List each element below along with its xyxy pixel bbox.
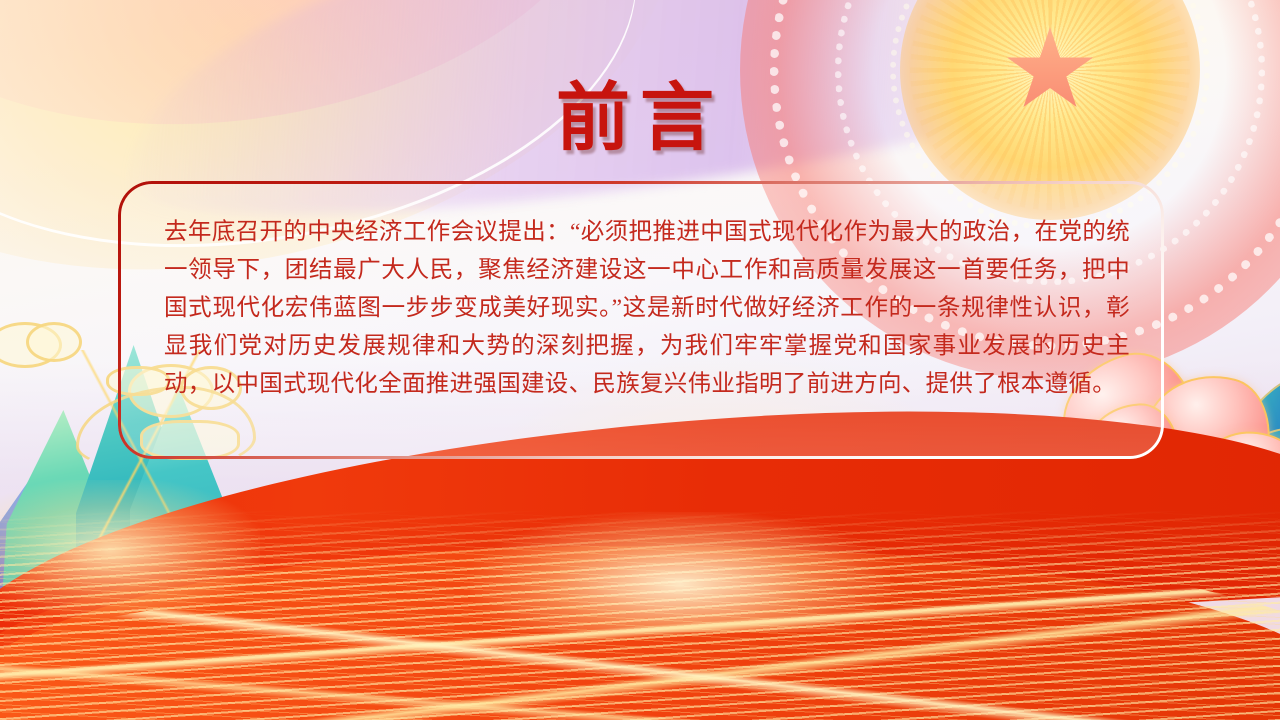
temple-platform <box>1024 614 1132 628</box>
temple-roof-bottom <box>1023 586 1133 614</box>
city-skyline-decoration <box>0 438 1280 628</box>
gold-cloud-scroll-1 <box>0 322 62 368</box>
shanghai-tower-icon <box>812 460 854 628</box>
peony-leaf-4 <box>1250 422 1280 468</box>
gothic-building-icon <box>872 516 918 628</box>
gold-cloud-scroll-2 <box>26 322 82 362</box>
red-ribbon-band-2 <box>0 514 1280 720</box>
skyline-building-twin-1 <box>664 568 698 628</box>
jin-mao-tower-icon <box>758 492 800 628</box>
jin-mao-tower-top <box>772 480 786 498</box>
gold-arc-line-2 <box>0 559 1280 720</box>
ribbon-glow-left <box>0 480 260 620</box>
peony-petal-5 <box>956 446 1088 572</box>
skyline-building-twin-2 <box>712 528 744 628</box>
gold-arc-line-1 <box>0 524 1280 720</box>
mountain-peak-purple-1 <box>0 480 92 600</box>
red-ribbon-band-3 <box>0 516 1280 720</box>
domed-building-base <box>912 610 996 628</box>
oriental-pearl-legs <box>602 582 652 628</box>
ribbon-glow-center <box>470 512 890 632</box>
temple-roof-middle <box>1037 558 1119 584</box>
body-paragraph: 去年底召开的中央经济工作会议提出：“必须把推进中国式现代化作为最大的政治，在党的… <box>164 213 1130 403</box>
peony-leaf-1 <box>923 487 1025 561</box>
temple-roof-top <box>1050 532 1106 556</box>
skyline-building-twin-2-spire <box>726 504 730 532</box>
temple-of-heaven-icon <box>1020 518 1136 628</box>
content-panel: 去年底召开的中央经济工作会议提出：“必须把推进中国式现代化作为最大的政治，在党的… <box>118 181 1164 459</box>
birds-nest-stadium-icon <box>440 562 630 626</box>
mountain-peak-purple-2 <box>98 482 238 600</box>
mountain-peak-green <box>2 410 120 600</box>
domed-building-icon <box>920 584 988 628</box>
oriental-pearl-mast <box>624 460 629 628</box>
cctv-headquarters-icon <box>578 496 702 628</box>
oriental-pearl-upper-sphere <box>608 498 646 536</box>
peony-stamen-2 <box>1048 500 1102 534</box>
gold-light-streaks <box>0 510 1280 720</box>
oriental-pearl-lower-sphere <box>616 561 639 584</box>
shanghai-tower-windows <box>812 460 854 628</box>
peony-leaf-3 <box>1235 366 1280 445</box>
temple-finial <box>1075 518 1082 534</box>
peony-petal-6 <box>1188 412 1280 533</box>
page-title: 前言 <box>0 82 1280 156</box>
presentation-slide: 前言 去年底召开的中央经济工作会议提出：“必须把推进中国式现代化作为最大的政治，… <box>0 0 1280 720</box>
mountain-peak-teal-3 <box>216 508 336 600</box>
peony-leaf-2 <box>950 458 1030 506</box>
